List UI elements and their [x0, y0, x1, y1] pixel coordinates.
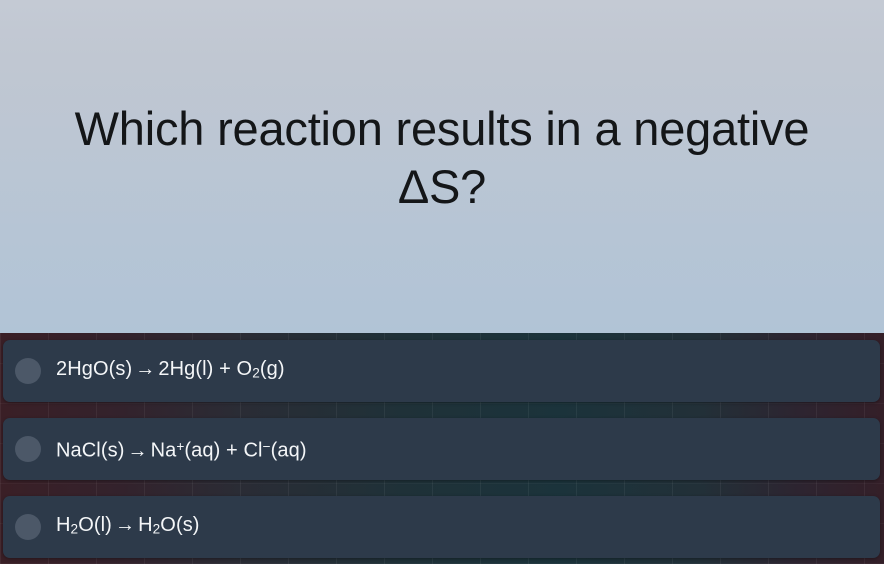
- answer-option[interactable]: 2HgO(s)→2Hg(l) + O2(g): [3, 340, 880, 402]
- answer-option[interactable]: H2O(l)→H2O(s): [3, 496, 880, 558]
- reaction-arrow-icon: →: [132, 358, 158, 380]
- answer-option-label: NaCl(s)→Na+(aq) + Cl−(aq): [56, 434, 307, 464]
- radio-button-icon[interactable]: [15, 358, 41, 384]
- answer-option-label: 2HgO(s)→2Hg(l) + O2(g): [56, 356, 285, 386]
- reaction-arrow-icon: →: [112, 514, 138, 536]
- quiz-screen: Which reaction results in a negative ΔS?…: [0, 0, 884, 564]
- answer-option-label: H2O(l)→H2O(s): [56, 512, 200, 542]
- radio-button-icon[interactable]: [15, 436, 41, 462]
- reaction-arrow-icon: →: [124, 440, 150, 462]
- question-text: Which reaction results in a negative ΔS?: [32, 100, 852, 216]
- answer-option[interactable]: NaCl(s)→Na+(aq) + Cl−(aq): [3, 418, 880, 480]
- answer-options-list: 2HgO(s)→2Hg(l) + O2(g)NaCl(s)→Na+(aq) + …: [0, 340, 884, 558]
- question-panel: Which reaction results in a negative ΔS?: [0, 0, 884, 333]
- radio-button-icon[interactable]: [15, 514, 41, 540]
